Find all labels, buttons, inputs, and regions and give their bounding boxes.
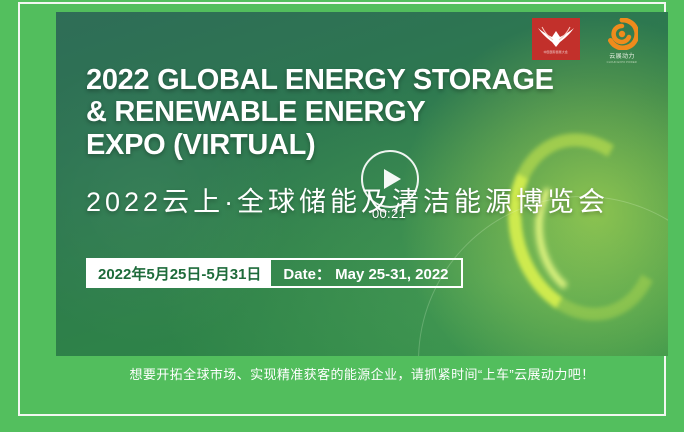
red-logo-subtext: 中国国际储能大会 bbox=[544, 50, 568, 54]
headline-line-3: EXPO (VIRTUAL) bbox=[86, 129, 646, 161]
headline-line-2: & RENEWABLE ENERGY bbox=[86, 96, 646, 128]
date-chinese: 2022年5月25日-5月31日 bbox=[88, 260, 271, 286]
play-triangle-icon bbox=[384, 169, 401, 189]
video-player[interactable]: 中国国际储能大会 云展动力 CLOUD EXPO POWER bbox=[56, 12, 668, 356]
poster-logo-group: 中国国际储能大会 云展动力 CLOUD EXPO POWER bbox=[532, 18, 646, 64]
caption-text: 想要开拓全球市场、实现精准获客的能源企业，请抓紧时间“上车”云展动力吧！ bbox=[56, 364, 668, 383]
page-root: 中国国际储能大会 云展动力 CLOUD EXPO POWER bbox=[0, 0, 684, 432]
orange-swirl-logo: 云展动力 CLOUD EXPO POWER bbox=[598, 18, 646, 64]
poster-subtitle: 2022云上·全球储能及清洁能源博览会 bbox=[86, 180, 609, 219]
play-button[interactable] bbox=[361, 150, 419, 208]
red-wing-logo: 中国国际储能大会 bbox=[532, 18, 580, 60]
poster-headline: 2022 GLOBAL ENERGY STORAGE & RENEWABLE E… bbox=[86, 64, 646, 161]
wing-w-icon bbox=[536, 25, 576, 49]
orange-logo-name: 云展动力 bbox=[609, 51, 635, 60]
poster-date-bar: 2022年5月25日-5月31日 Date： May 25-31, 2022 bbox=[86, 258, 463, 288]
date-english: Date： May 25-31, 2022 bbox=[271, 260, 460, 286]
headline-line-1: 2022 GLOBAL ENERGY STORAGE bbox=[86, 64, 646, 96]
media-card-frame: 中国国际储能大会 云展动力 CLOUD EXPO POWER bbox=[18, 2, 666, 416]
video-timer: 00:21 bbox=[372, 206, 406, 221]
swirl-circle-icon bbox=[606, 18, 638, 50]
